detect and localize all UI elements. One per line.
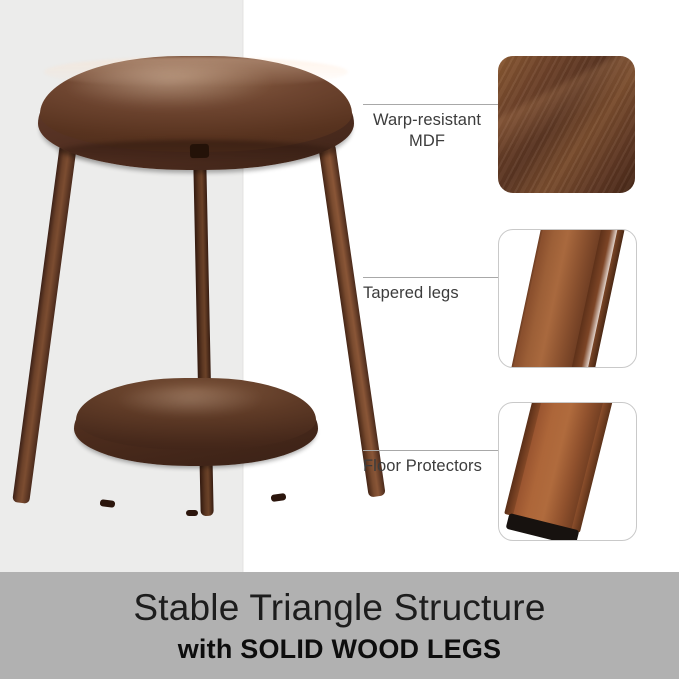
callout-label: Tapered legs [363,283,495,304]
lower-shelf-highlight [114,386,282,422]
table-foot-left [100,499,116,508]
floor-protector-closeup-thumbnail [498,402,637,541]
callout-rule [363,277,503,278]
wood-grain-swatch-thumbnail [498,56,635,193]
tapered-leg-closeup-thumbnail [498,229,637,368]
table-top-sheen [66,64,316,120]
callout-rule [363,450,503,451]
wood-grain-highlight [498,56,635,156]
table-foot-center [186,510,198,516]
headline-primary: Stable Triangle Structure [133,586,545,630]
infographic-canvas: Warp-resistant MDF Tapered legs Floor Pr… [0,0,679,679]
headline-secondary-strong: SOLID WOOD LEGS [240,634,501,664]
headline-secondary: with SOLID WOOD LEGS [178,632,502,666]
headline-secondary-prefix: with [178,634,241,664]
callout-label: Warp-resistant MDF [363,110,491,152]
callout-label: Floor Protectors [363,456,499,477]
table-leg-left [12,143,77,504]
center-leg-joint [190,144,209,158]
tapered-leg-photo [500,229,629,368]
callout-rule [363,104,505,105]
table-foot-right [271,493,287,502]
headline-banner: Stable Triangle Structure with SOLID WOO… [0,572,679,679]
product-photo [18,48,368,528]
floor-protector-photo [498,402,635,541]
